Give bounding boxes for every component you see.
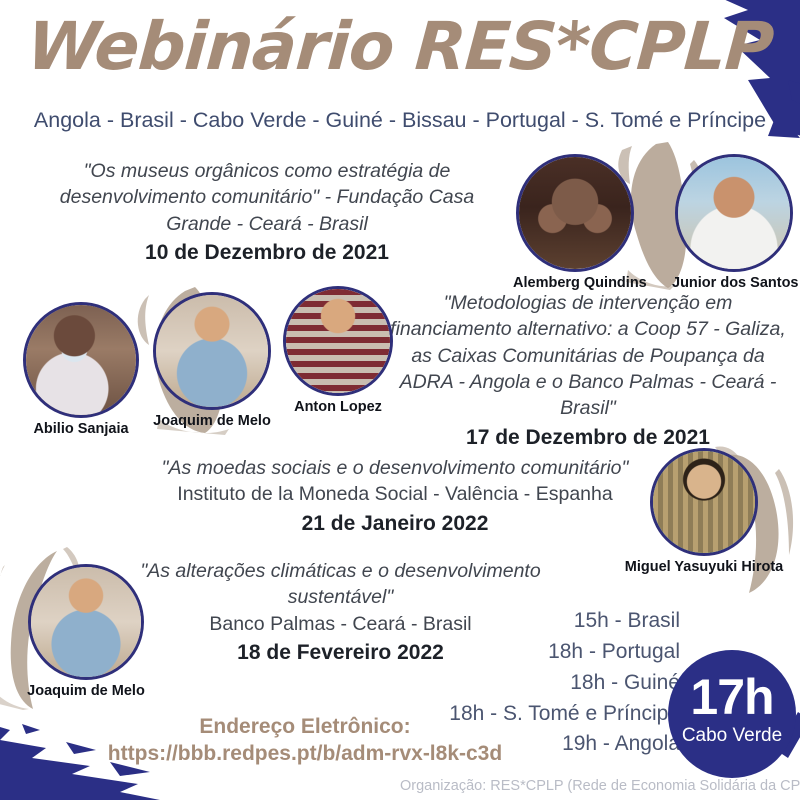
speaker-joaquim-de-melo-bottom: Joaquim de Melo <box>22 564 150 699</box>
avatar <box>650 448 758 556</box>
endereco-label: Endereço Eletrônico: <box>115 715 495 739</box>
page-title: Webinário RES*CPLP <box>0 8 800 85</box>
speaker-name: Joaquim de Melo <box>22 683 150 699</box>
session-4-title: "As alterações climáticas e o desenvolvi… <box>118 558 563 611</box>
avatar-image <box>156 295 268 407</box>
session-3: "As moedas sociais e o desenvolvimento c… <box>135 455 655 539</box>
speaker-name: Junior dos Santos <box>672 275 796 291</box>
avatar-image <box>653 451 755 553</box>
avatar-image <box>31 567 141 677</box>
avatar-image <box>286 289 390 393</box>
session-3-title: "As moedas sociais e o desenvolvimento c… <box>135 455 655 481</box>
speaker-miguel-yasuyuki-hirota: Miguel Yasuyuki Hirota <box>613 448 795 575</box>
avatar <box>283 286 393 396</box>
badge-country: Cabo Verde <box>668 726 796 747</box>
session-3-org: Instituto de la Moneda Social - Valência… <box>135 481 655 507</box>
webinar-url[interactable]: https://bbb.redpes.pt/b/adm-rvx-l8k-c3d <box>95 742 515 766</box>
speaker-name: Miguel Yasuyuki Hirota <box>613 559 795 575</box>
speaker-abilio-sanjaia: Abilio Sanjaia <box>18 302 144 437</box>
avatar-image <box>519 157 631 269</box>
country-list-subtitle: Angola - Brasil - Cabo Verde - Guiné - B… <box>0 108 800 133</box>
avatar <box>153 292 271 410</box>
avatar <box>23 302 139 418</box>
badge-time: 17h <box>668 650 796 722</box>
avatar-image <box>678 157 790 269</box>
session-3-date: 21 de Janeiro 2022 <box>135 508 655 540</box>
session-1: "Os museus orgânicos como estratégia de … <box>42 158 492 268</box>
session-2-title: "Metodologias de intervenção em financia… <box>388 290 788 422</box>
speaker-name: Abilio Sanjaia <box>18 421 144 437</box>
organization-credit: Organização: RES*CPLP (Rede de Economia … <box>400 778 792 794</box>
session-2: "Metodologias de intervenção em financia… <box>388 290 788 453</box>
speaker-alemberg-quindins: Alemberg Quindins <box>513 154 637 291</box>
cabo-verde-time-badge: 17h Cabo Verde <box>668 650 796 778</box>
timezone-item: 18h - Guiné <box>380 668 680 699</box>
speaker-anton-lopez: Anton Lopez <box>282 286 394 415</box>
speaker-name: Joaquim de Melo <box>146 413 278 429</box>
avatar <box>675 154 793 272</box>
avatar <box>28 564 144 680</box>
speaker-joaquim-de-melo-mid: Joaquim de Melo <box>146 292 278 429</box>
timezone-item: 15h - Brasil <box>380 606 680 637</box>
speaker-name: Alemberg Quindins <box>513 275 637 291</box>
session-1-date: 10 de Dezembro de 2021 <box>42 237 492 269</box>
speaker-name: Anton Lopez <box>282 399 394 415</box>
avatar <box>516 154 634 272</box>
avatar-image <box>26 305 136 415</box>
speaker-junior-dos-santos: Junior dos Santos <box>672 154 796 291</box>
timezone-item: 18h - Portugal <box>380 637 680 668</box>
session-1-title: "Os museus orgânicos como estratégia de … <box>42 158 492 237</box>
webinar-poster: Webinário RES*CPLP Angola - Brasil - Cab… <box>0 0 800 800</box>
